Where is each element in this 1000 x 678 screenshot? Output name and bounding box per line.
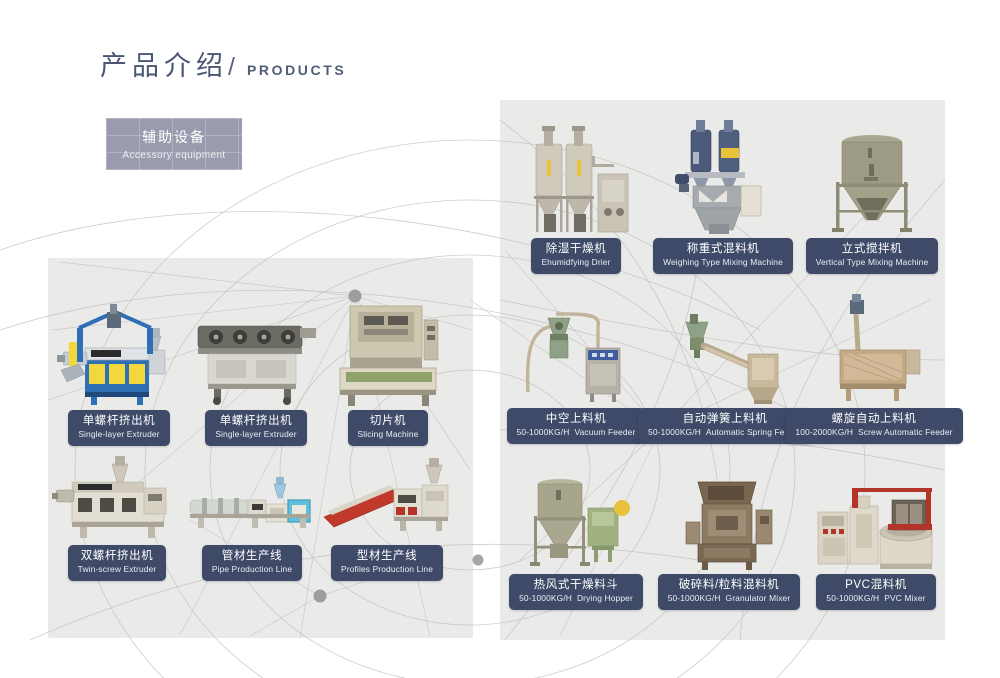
product-name-cn: 单螺杆挤出机 — [78, 414, 159, 428]
product-card-pvc-mixer[interactable]: PVC混料机 50-1000KG/H PVC Mixer — [810, 470, 942, 610]
product-label-slicing-machine: 切片机 Slicing Machine — [348, 410, 429, 446]
product-card-single-layer-extruder-2[interactable]: 单螺杆挤出机 Single-layer Extruder — [192, 300, 320, 446]
product-image-pvc-mixer — [810, 470, 942, 574]
product-image-vacuum-feeder — [508, 296, 644, 408]
product-name-cn: PVC混料机 — [826, 578, 925, 592]
product-label-pipe-production-line: 管材生产线 Pipe Production Line — [202, 545, 302, 581]
product-name-cn: 立式搅拌机 — [816, 242, 929, 256]
product-name-cn: 破碎料/粒料混料机 — [668, 578, 791, 592]
product-name-cn: 切片机 — [358, 414, 419, 428]
product-name-en: 50-1000KG/H Automatic Spring Feeder — [648, 427, 802, 438]
product-name-cn: 型材生产线 — [341, 549, 433, 563]
product-card-automatic-spring-feeder[interactable]: 自动弹簧上料机 50-1000KG/H Automatic Spring Fee… — [660, 296, 790, 444]
product-name-en: Single-layer Extruder — [215, 429, 296, 440]
page-title-cn: 产品介绍 — [100, 44, 228, 83]
product-name-en: Slicing Machine — [358, 429, 419, 440]
category-tag-label-en: Accessory equipment — [122, 150, 225, 161]
product-name-en: Pipe Production Line — [212, 564, 292, 575]
product-name-cn: 称重式混料机 — [663, 242, 783, 256]
product-label-granulator-mixer: 破碎料/粒料混料机 50-1000KG/H Granulator Mixer — [658, 574, 801, 610]
product-name-en: 50-1000KG/H Drying Hopper — [519, 593, 633, 604]
product-name-cn: 螺旋自动上料机 — [795, 412, 952, 426]
product-image-screw-automatic-feeder — [806, 292, 942, 408]
product-name-en: 50-1000KG/H Vacuum Feeder — [517, 427, 636, 438]
product-card-weighing-mixing-machine[interactable]: 称重式混料机 Weighing Type Mixing Machine — [663, 112, 783, 274]
product-name-en: 50-1000KG/H Granulator Mixer — [668, 593, 791, 604]
product-card-slicing-machine[interactable]: 切片机 Slicing Machine — [328, 296, 448, 446]
product-name-en: 100-2000KG/H Screw Automatic Feeder — [795, 427, 952, 438]
product-name-cn: 双螺杆挤出机 — [78, 549, 157, 563]
product-card-single-layer-extruder-1[interactable]: 单螺杆挤出机 Single-layer Extruder — [55, 300, 183, 446]
product-name-cn: 自动弹簧上料机 — [648, 412, 802, 426]
product-image-dehumidifying-drier — [516, 126, 636, 238]
product-card-profiles-production-line[interactable]: 型材生产线 Profiles Production Line — [322, 455, 452, 581]
product-label-vertical-mixing-machine: 立式搅拌机 Vertical Type Mixing Machine — [806, 238, 939, 274]
product-name-cn: 中空上料机 — [517, 412, 636, 426]
product-image-granulator-mixer — [664, 470, 794, 574]
product-name-en: Twin-screw Extruder — [78, 564, 157, 575]
product-label-dehumidifying-drier: 除湿干燥机 Ehumidfying Drier — [531, 238, 620, 274]
product-label-twin-screw-extruder: 双螺杆挤出机 Twin-screw Extruder — [68, 545, 167, 581]
product-image-single-layer-extruder-2 — [192, 300, 320, 410]
product-image-vertical-mixing-machine — [812, 124, 932, 238]
product-label-vacuum-feeder: 中空上料机 50-1000KG/H Vacuum Feeder — [507, 408, 646, 444]
product-catalog-page: 产品介绍 / PRODUCTS 辅助设备 Accessory equipment — [0, 0, 1000, 678]
product-label-pvc-mixer: PVC混料机 50-1000KG/H PVC Mixer — [816, 574, 935, 610]
product-card-pipe-production-line[interactable]: 管材生产线 Pipe Production Line — [188, 460, 316, 581]
product-image-twin-screw-extruder — [52, 450, 182, 545]
product-card-vacuum-feeder[interactable]: 中空上料机 50-1000KG/H Vacuum Feeder — [508, 296, 644, 444]
product-card-drying-hopper[interactable]: 热风式干燥料斗 50-1000KG/H Drying Hopper — [512, 468, 640, 610]
product-card-twin-screw-extruder[interactable]: 双螺杆挤出机 Twin-screw Extruder — [52, 450, 182, 581]
product-name-cn: 除湿干燥机 — [541, 242, 610, 256]
product-image-slicing-machine — [328, 296, 448, 410]
product-label-weighing-mixing-machine: 称重式混料机 Weighing Type Mixing Machine — [653, 238, 793, 274]
product-name-en: Ehumidfying Drier — [541, 257, 610, 268]
product-label-screw-automatic-feeder: 螺旋自动上料机 100-2000KG/H Screw Automatic Fee… — [785, 408, 962, 444]
product-card-granulator-mixer[interactable]: 破碎料/粒料混料机 50-1000KG/H Granulator Mixer — [664, 470, 794, 610]
product-image-single-layer-extruder-1 — [55, 300, 183, 410]
product-name-cn: 单螺杆挤出机 — [215, 414, 296, 428]
product-image-profiles-production-line — [322, 455, 452, 545]
product-image-automatic-spring-feeder — [660, 296, 790, 408]
product-name-en: Vertical Type Mixing Machine — [816, 257, 929, 268]
product-card-vertical-mixing-machine[interactable]: 立式搅拌机 Vertical Type Mixing Machine — [812, 124, 932, 274]
decorative-dot — [473, 555, 484, 566]
product-card-dehumidifying-drier[interactable]: 除湿干燥机 Ehumidfying Drier — [516, 126, 636, 274]
page-title-en: PRODUCTS — [247, 62, 346, 78]
product-name-cn: 热风式干燥料斗 — [519, 578, 633, 592]
product-name-en: Profiles Production Line — [341, 564, 433, 575]
product-card-screw-automatic-feeder[interactable]: 螺旋自动上料机 100-2000KG/H Screw Automatic Fee… — [806, 292, 942, 444]
product-label-profiles-production-line: 型材生产线 Profiles Production Line — [331, 545, 443, 581]
product-image-pipe-production-line — [188, 460, 316, 545]
product-name-cn: 管材生产线 — [212, 549, 292, 563]
category-tag-accessory-equipment[interactable]: 辅助设备 Accessory equipment — [106, 118, 242, 170]
product-label-single-layer-extruder-2: 单螺杆挤出机 Single-layer Extruder — [205, 410, 306, 446]
category-tag-label-cn: 辅助设备 — [142, 127, 206, 147]
product-label-drying-hopper: 热风式干燥料斗 50-1000KG/H Drying Hopper — [509, 574, 643, 610]
product-name-en: Single-layer Extruder — [78, 429, 159, 440]
product-name-en: 50-1000KG/H PVC Mixer — [826, 593, 925, 604]
product-image-drying-hopper — [512, 468, 640, 574]
product-label-single-layer-extruder-1: 单螺杆挤出机 Single-layer Extruder — [68, 410, 169, 446]
page-title: 产品介绍 / PRODUCTS — [100, 44, 346, 83]
page-title-separator: / — [228, 53, 235, 82]
product-name-en: Weighing Type Mixing Machine — [663, 257, 783, 268]
product-image-weighing-mixing-machine — [663, 112, 783, 238]
